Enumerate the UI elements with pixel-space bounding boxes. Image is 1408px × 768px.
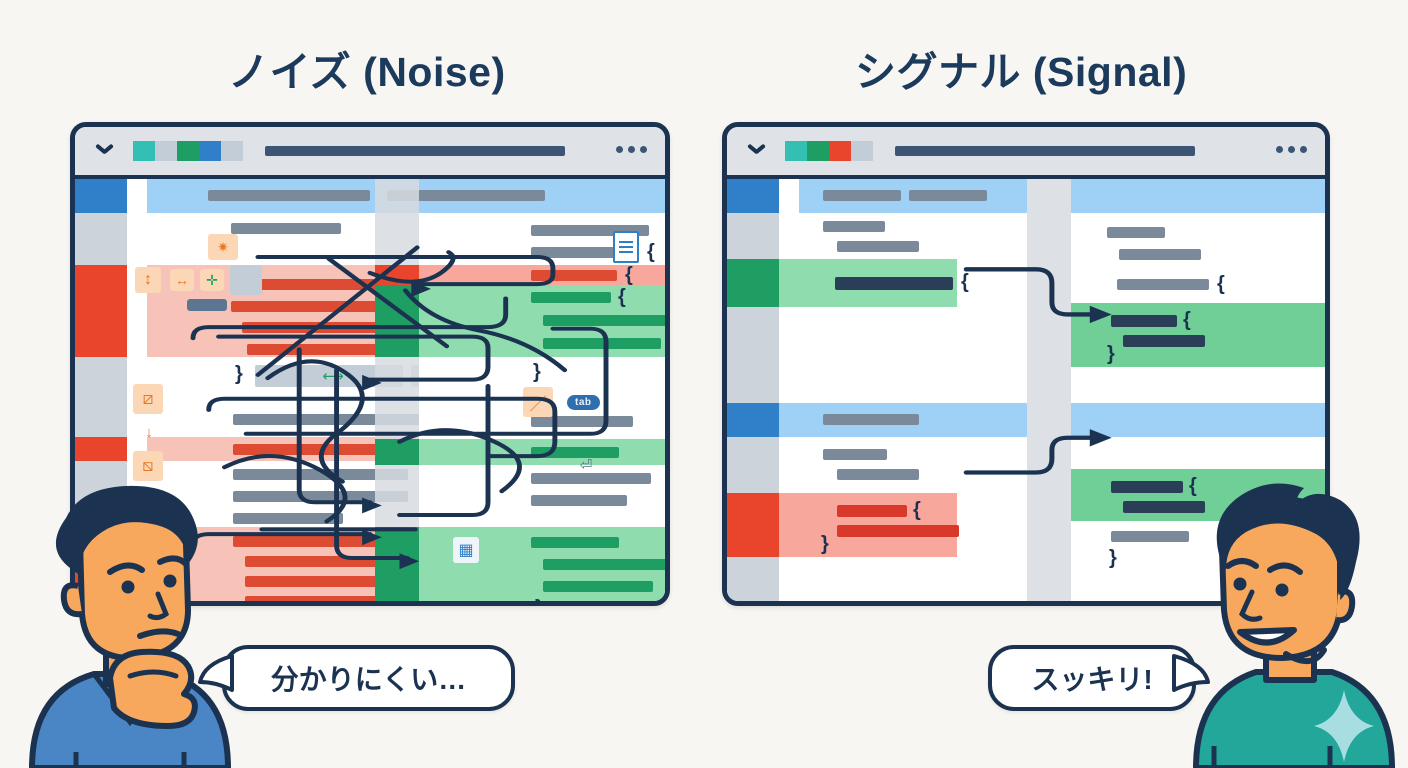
gutter-spacer xyxy=(779,307,799,403)
code-bar xyxy=(233,513,343,524)
pencil-icon[interactable]: ／ xyxy=(523,387,553,417)
code-bar xyxy=(909,190,987,201)
resize-horizontal-icon[interactable]: ↔ xyxy=(170,269,194,291)
code-bar-deleted xyxy=(531,270,617,281)
gutter-cell-added xyxy=(375,439,419,465)
brace-glyph: { xyxy=(618,292,626,303)
code-bar-added xyxy=(531,537,619,548)
gutter-spacer xyxy=(779,437,799,493)
brace-glyph: } xyxy=(821,539,829,550)
tab-chip[interactable] xyxy=(177,141,199,161)
address-bar[interactable] xyxy=(895,146,1195,156)
code-bar-deleted xyxy=(233,536,383,547)
code-bar xyxy=(1119,249,1201,260)
gutter-cell xyxy=(727,213,779,259)
chevron-down-icon[interactable] xyxy=(747,145,767,157)
table-row xyxy=(727,213,1027,259)
speech-bubble-left-text: 分かりにくい… xyxy=(271,658,466,698)
code-bar-added xyxy=(543,581,653,592)
brace-glyph: { xyxy=(913,505,921,516)
table-row-deletion: { xyxy=(375,265,665,285)
address-bar[interactable] xyxy=(265,146,565,156)
gutter-cell-deleted xyxy=(75,437,127,461)
titlebar-signal xyxy=(727,127,1325,179)
table-row xyxy=(1071,403,1325,437)
crop-icon[interactable]: ⧄ xyxy=(133,384,163,414)
code-bar xyxy=(531,416,633,427)
gutter-cell xyxy=(727,403,779,437)
code-bar-deleted xyxy=(231,301,377,312)
more-horizontal-icon[interactable] xyxy=(1276,146,1307,153)
table-row-addition xyxy=(375,439,665,465)
brace-glyph: } xyxy=(1107,349,1115,360)
chevron-down-icon[interactable] xyxy=(95,145,115,157)
table-row xyxy=(727,179,1027,213)
table-row-addition: { { xyxy=(375,285,665,357)
code-bar-added xyxy=(543,315,665,326)
table-row xyxy=(727,307,1027,403)
placeholder-chip[interactable] xyxy=(230,265,262,295)
code-bar xyxy=(823,414,919,425)
titlebar-noise xyxy=(75,127,665,179)
gutter-cell xyxy=(75,403,127,437)
gutter-cell xyxy=(727,557,779,601)
sparkle-icon: ✷ xyxy=(208,234,238,260)
code-bar xyxy=(823,449,887,460)
code-bar-deleted xyxy=(837,505,907,517)
code-bar-added xyxy=(543,338,661,349)
enter-key-icon: ⏎ xyxy=(575,455,597,475)
tab-chip[interactable] xyxy=(785,141,807,161)
code-bar xyxy=(1107,227,1165,238)
table-row-addition: { } xyxy=(1071,303,1325,367)
row-band xyxy=(799,557,1027,601)
brace-glyph: } xyxy=(1109,553,1117,564)
tab-chip[interactable] xyxy=(133,141,155,161)
gutter-spacer xyxy=(779,403,799,437)
tab-chip[interactable] xyxy=(807,141,829,161)
brace-glyph: } xyxy=(235,369,243,380)
code-bar xyxy=(823,221,885,232)
diff-left-column-signal: { xyxy=(727,179,1027,601)
table-row xyxy=(1071,437,1325,469)
table-row xyxy=(1071,367,1325,403)
gutter-spacer xyxy=(779,557,799,601)
brace-glyph: { xyxy=(625,270,633,281)
code-bar xyxy=(837,241,919,252)
bookmark-icon[interactable] xyxy=(187,299,227,311)
tab-chips-signal xyxy=(785,141,873,161)
gutter-cell-deleted xyxy=(375,265,419,285)
gutter-spacer xyxy=(779,179,799,213)
code-bar xyxy=(531,495,627,506)
gutter-cell xyxy=(727,437,779,493)
gutter-cell xyxy=(75,357,127,403)
code-bar xyxy=(823,190,901,201)
code-bar-deleted xyxy=(837,525,959,537)
tab-chip[interactable] xyxy=(199,141,221,161)
table-row-deletion: { } xyxy=(727,493,1027,557)
table-row xyxy=(375,465,665,527)
confused-person xyxy=(18,482,248,768)
tab-chips-noise xyxy=(133,141,243,161)
page-title-signal: シグナル (Signal) xyxy=(855,38,1187,98)
brace-glyph: { xyxy=(647,247,655,258)
resize-vertical-icon[interactable]: ↕ xyxy=(135,267,161,293)
tab-badge[interactable]: tab xyxy=(567,395,600,410)
tab-chip[interactable] xyxy=(829,141,851,161)
table-row xyxy=(727,403,1027,437)
gutter-cell-added xyxy=(727,259,779,307)
page-title-noise: ノイズ (Noise) xyxy=(228,38,506,98)
code-bar-added xyxy=(1111,481,1183,493)
table-row: { xyxy=(1071,213,1325,303)
brace-glyph: { xyxy=(961,277,969,288)
table-row-addition: { xyxy=(727,259,1027,307)
brace-glyph: } xyxy=(533,367,541,378)
speech-bubble-left: 分かりにくい… xyxy=(222,645,515,711)
transform-icon[interactable]: ⧅ xyxy=(133,451,163,481)
move-icon[interactable]: ✛ xyxy=(200,269,224,291)
table-row: } xyxy=(375,357,665,405)
row-band xyxy=(799,437,1027,493)
happy-person xyxy=(1178,474,1408,768)
code-bar-added xyxy=(1123,335,1205,347)
code-bar-added xyxy=(835,277,953,290)
code-bar xyxy=(837,469,919,480)
poster-canvas: ノイズ (Noise) シグナル (Signal) xyxy=(0,0,1408,768)
document-icon[interactable] xyxy=(613,231,639,263)
gutter-cell-deleted xyxy=(75,265,127,357)
speech-bubble-right-text: スッキリ! xyxy=(1031,658,1152,698)
gutter-cell xyxy=(727,179,779,213)
column-divider xyxy=(1027,179,1071,601)
brace-glyph: { xyxy=(1217,279,1225,290)
gutter-cell-added xyxy=(375,285,419,357)
table-row xyxy=(375,405,665,439)
gutter-cell xyxy=(727,307,779,403)
row-band xyxy=(799,213,1027,259)
tab-chip[interactable] xyxy=(851,141,873,161)
arrow-down-icon[interactable]: ↓ xyxy=(137,421,161,443)
table-row-addition: } xyxy=(375,527,665,601)
gutter-cell-added xyxy=(375,527,419,601)
code-bar-added xyxy=(1111,315,1177,327)
gutter-spacer xyxy=(779,493,799,557)
speech-bubble-right: スッキリ! xyxy=(988,645,1196,711)
gutter-spacer xyxy=(779,259,799,307)
row-band xyxy=(799,307,1027,403)
tab-chip[interactable] xyxy=(155,141,177,161)
resize-horizontal-icon[interactable]: ⟷ xyxy=(308,367,358,385)
table-icon[interactable]: ▦ xyxy=(453,537,479,563)
table-row xyxy=(1071,179,1325,213)
code-bar xyxy=(1117,279,1209,290)
more-horizontal-icon[interactable] xyxy=(616,146,647,153)
brace-glyph: { xyxy=(1183,315,1191,326)
code-bar-added xyxy=(543,559,665,570)
table-row xyxy=(727,557,1027,601)
gutter-cell-deleted xyxy=(727,493,779,557)
table-row xyxy=(727,437,1027,493)
code-bar-added xyxy=(531,292,611,303)
tab-chip[interactable] xyxy=(221,141,243,161)
gutter-spacer xyxy=(779,213,799,259)
